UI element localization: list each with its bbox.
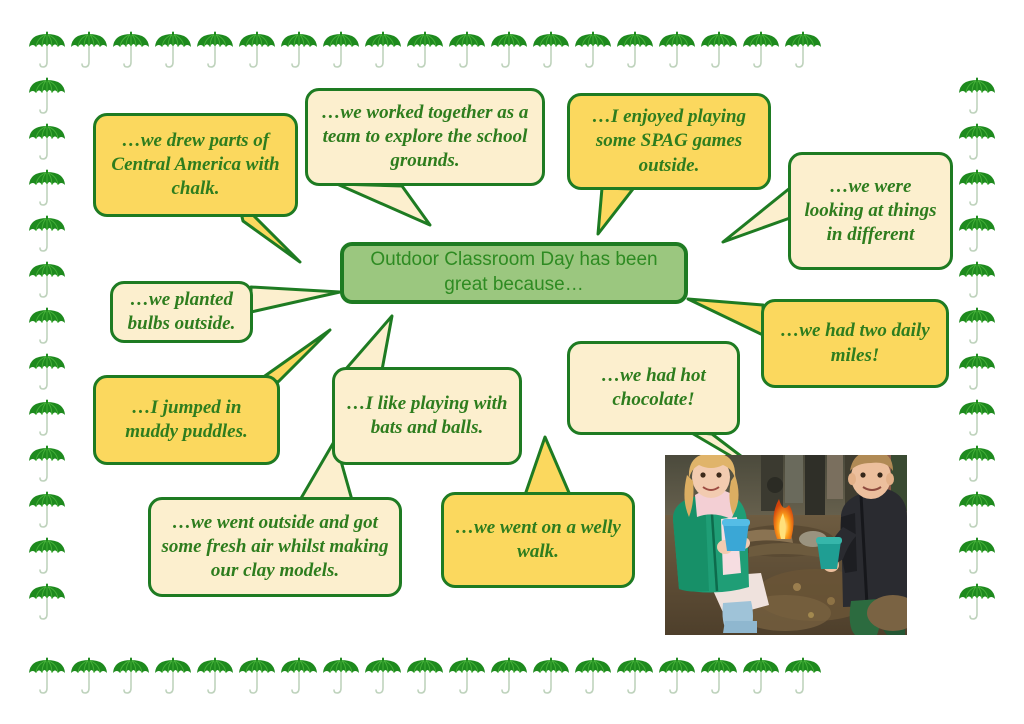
central-statement-box: Outdoor Classroom Day has been great bec…	[340, 242, 688, 304]
speech-bubble-text: …we had two daily miles!	[774, 319, 936, 368]
speech-bubble-daily-miles: …we had two daily miles!	[761, 299, 949, 388]
speech-bubble-text: …I enjoyed playing some SPAG games outsi…	[580, 105, 758, 178]
speech-bubble-welly-walk: …we went on a welly walk.	[441, 492, 635, 588]
speech-bubble-chalk: …we drew parts of Central America with c…	[93, 113, 298, 217]
speech-bubble-text: …we drew parts of Central America with c…	[106, 129, 285, 202]
speech-bubble-text: …I jumped in muddy puddles.	[106, 396, 267, 445]
speech-bubble-text: …I like playing with bats and balls.	[345, 392, 509, 441]
speech-bubble-team: …we worked together as a team to explore…	[305, 88, 545, 186]
speech-bubble-text: …we went on a welly walk.	[454, 516, 622, 565]
speech-bubble-bats-balls: …I like playing with bats and balls.	[332, 367, 522, 465]
speech-bubble-puddles: …I jumped in muddy puddles.	[93, 375, 280, 465]
children-campfire-photo	[665, 455, 907, 635]
speech-bubble-text: …we had hot chocolate!	[580, 364, 727, 413]
speech-bubble-spag: …I enjoyed playing some SPAG games outsi…	[567, 93, 771, 190]
speech-bubble-hot-choc: …we had hot chocolate!	[567, 341, 740, 435]
speech-bubble-text: …we worked together as a team to explore…	[318, 101, 532, 174]
speech-bubble-bulbs: …we planted bulbs outside.	[110, 281, 253, 343]
speech-bubble-looking: …we were looking at things in different	[788, 152, 953, 270]
speech-bubble-clay-models: …we went outside and got some fresh air …	[148, 497, 402, 597]
speech-bubble-text: …we went outside and got some fresh air …	[161, 511, 389, 584]
speech-bubble-text: …we planted bulbs outside.	[123, 288, 240, 337]
speech-bubble-text: …we were looking at things in different	[801, 175, 940, 248]
poster-canvas: …we drew parts of Central America with c…	[0, 0, 1024, 724]
central-statement-text: Outdoor Classroom Day has been great bec…	[358, 248, 670, 297]
